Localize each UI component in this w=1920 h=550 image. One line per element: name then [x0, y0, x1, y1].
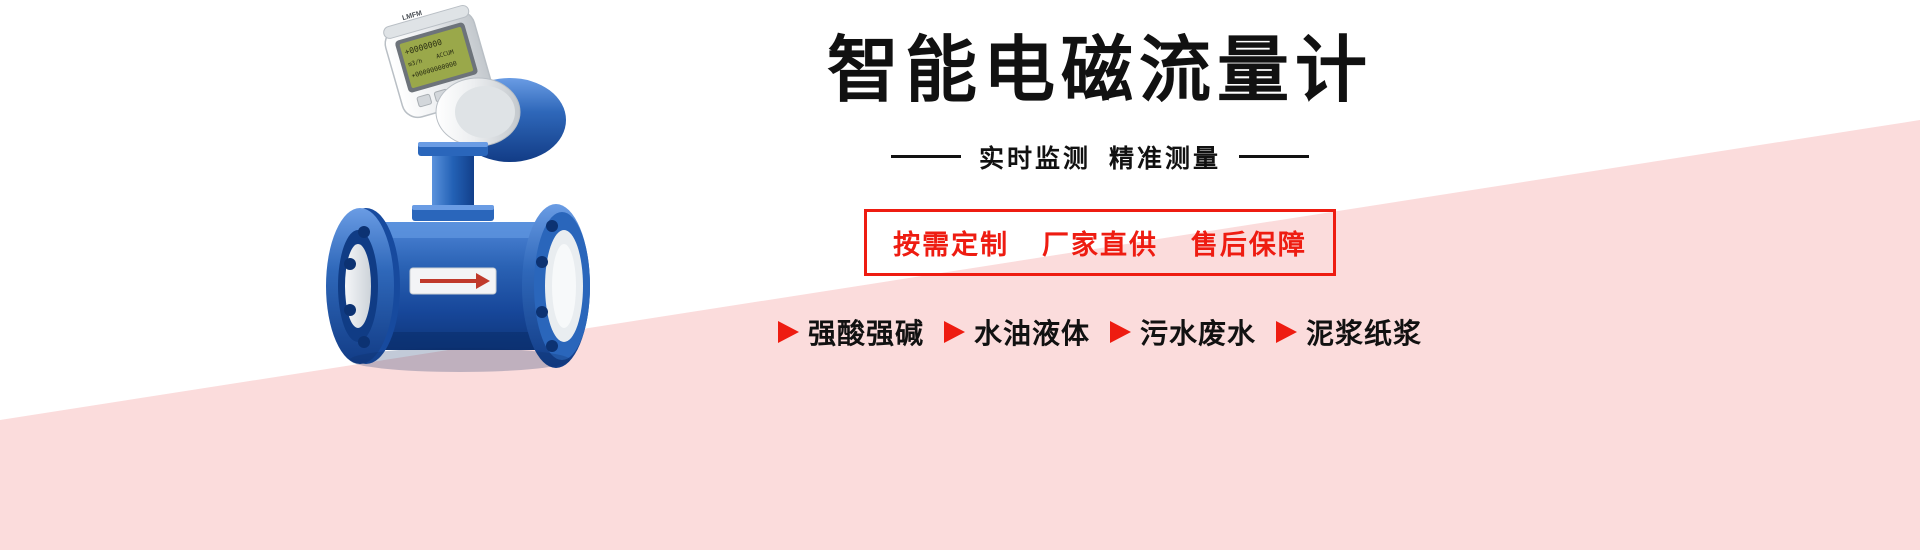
transmitter-head: +0000000 m3/h ACCUM +00000000000 LMFM [378, 0, 566, 162]
rule-right-icon [1239, 155, 1309, 158]
transmitter-neck [412, 142, 494, 221]
subtitle-right: 精准测量 [1109, 139, 1221, 175]
feature-label: 水油液体 [974, 312, 1090, 352]
arrow-right-icon [778, 321, 799, 343]
page-title: 智能电磁流量计 [600, 30, 1600, 113]
product-banner: +0000000 m3/h ACCUM +00000000000 LMFM [0, 0, 1920, 550]
feature-item: 水油液体 [944, 312, 1090, 352]
feature-label: 强酸强碱 [808, 312, 924, 352]
arrow-right-icon [1276, 321, 1297, 343]
subtitle-left: 实时监测 [979, 139, 1091, 175]
promo-item-2: 厂家直供 [1042, 230, 1158, 260]
arrow-right-icon [944, 321, 965, 343]
rule-left-icon [891, 155, 961, 158]
flowmeter-body [326, 204, 590, 372]
feature-label: 泥浆纸浆 [1306, 312, 1422, 352]
flange-left [326, 208, 400, 364]
feature-label: 污水废水 [1140, 312, 1256, 352]
promo-box: 按需定制 厂家直供 售后保障 [864, 209, 1336, 276]
feature-item: 强酸强碱 [778, 312, 924, 352]
flange-right [522, 204, 590, 368]
feature-item: 泥浆纸浆 [1276, 312, 1422, 352]
promo-item-1: 按需定制 [893, 230, 1009, 260]
promo-item-3: 售后保障 [1191, 230, 1307, 260]
banner-content: 智能电磁流量计 实时监测 精准测量 按需定制 厂家直供 售后保障 强酸强碱 水油… [600, 30, 1600, 352]
arrow-right-icon [1110, 321, 1131, 343]
subtitle-row: 实时监测 精准测量 [600, 139, 1600, 175]
feature-list: 强酸强碱 水油液体 污水废水 泥浆纸浆 [600, 312, 1600, 352]
feature-item: 污水废水 [1110, 312, 1256, 352]
